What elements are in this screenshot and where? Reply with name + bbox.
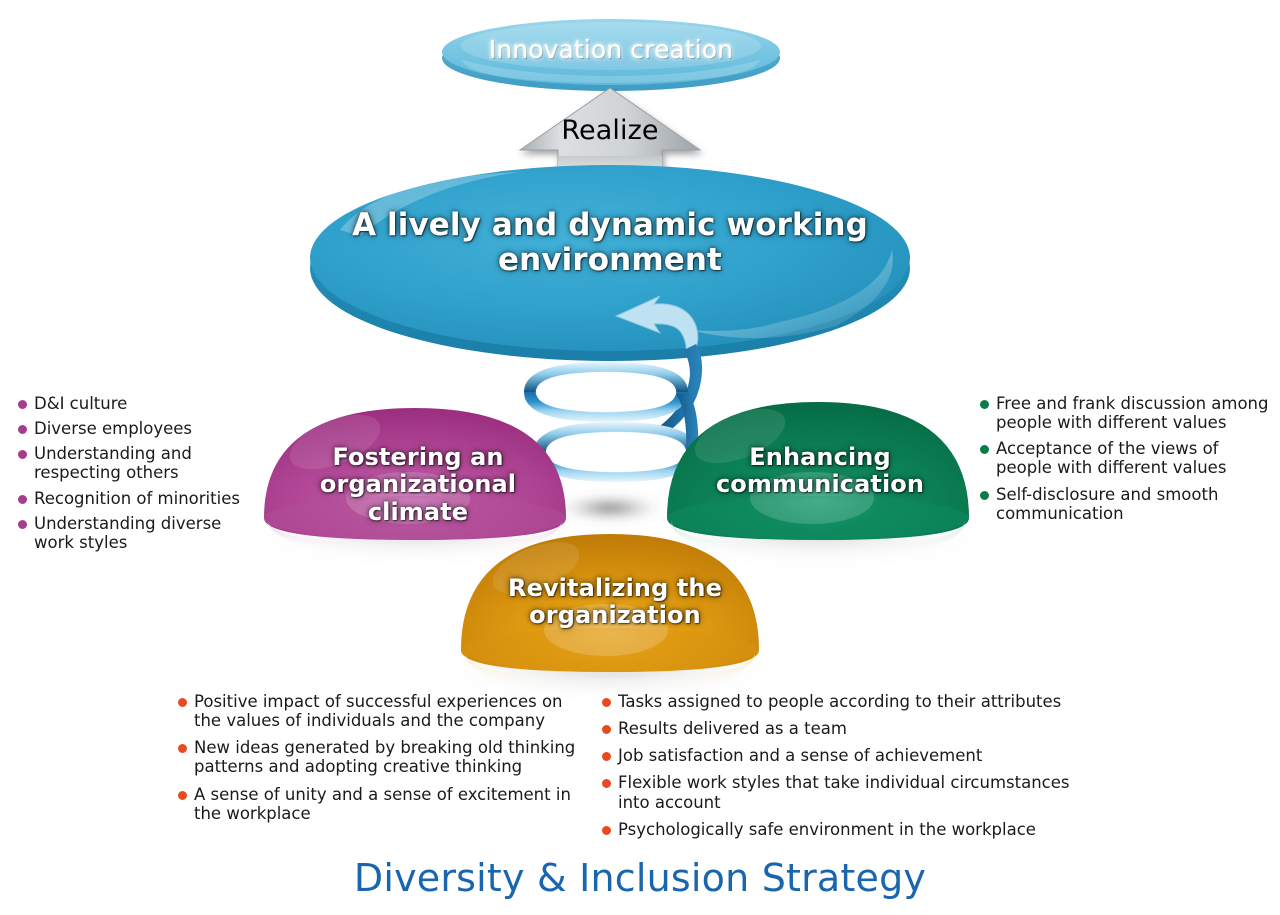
list-item: Understanding diverse work styles [18, 514, 258, 552]
list-item: Free and frank discussion among people w… [980, 394, 1270, 432]
page-title: Diversity & Inclusion Strategy [0, 856, 1280, 900]
list-item: Psychologically safe environment in the … [602, 820, 1072, 839]
diagram-canvas: Innovation creation Realize A lively and… [0, 0, 1280, 915]
innovation-creation-shape [442, 19, 780, 91]
revitalize-bullet-list-right: Tasks assigned to people according to th… [602, 692, 1072, 847]
list-item: Diverse employees [18, 419, 258, 438]
communication-bullet-list: Free and frank discussion among people w… [980, 394, 1270, 530]
enhancing-communication-shape [666, 398, 970, 556]
list-item: Self-disclosure and smooth communication [980, 485, 1270, 523]
list-item: Flexible work styles that take individua… [602, 773, 1072, 811]
fostering-climate-shape [263, 404, 567, 552]
spiral-ground-shadow [558, 495, 662, 521]
list-item: D&I culture [18, 394, 258, 413]
list-item: Tasks assigned to people according to th… [602, 692, 1072, 711]
list-item: New ideas generated by breaking old thin… [178, 738, 588, 776]
list-item: Positive impact of successful experience… [178, 692, 588, 730]
lively-environment-shape [310, 165, 910, 361]
revitalizing-organization-shape [460, 531, 760, 688]
list-item: Acceptance of the views of people with d… [980, 439, 1270, 477]
revitalize-bullet-list-left: Positive impact of successful experience… [178, 692, 588, 831]
list-item: Recognition of minorities [18, 489, 258, 508]
list-item: Results delivered as a team [602, 719, 1072, 738]
list-item: Job satisfaction and a sense of achievem… [602, 746, 1072, 765]
list-item: A sense of unity and a sense of exciteme… [178, 785, 588, 823]
climate-bullet-list: D&I cultureDiverse employeesUnderstandin… [18, 394, 258, 558]
list-item: Understanding and respecting others [18, 444, 258, 482]
